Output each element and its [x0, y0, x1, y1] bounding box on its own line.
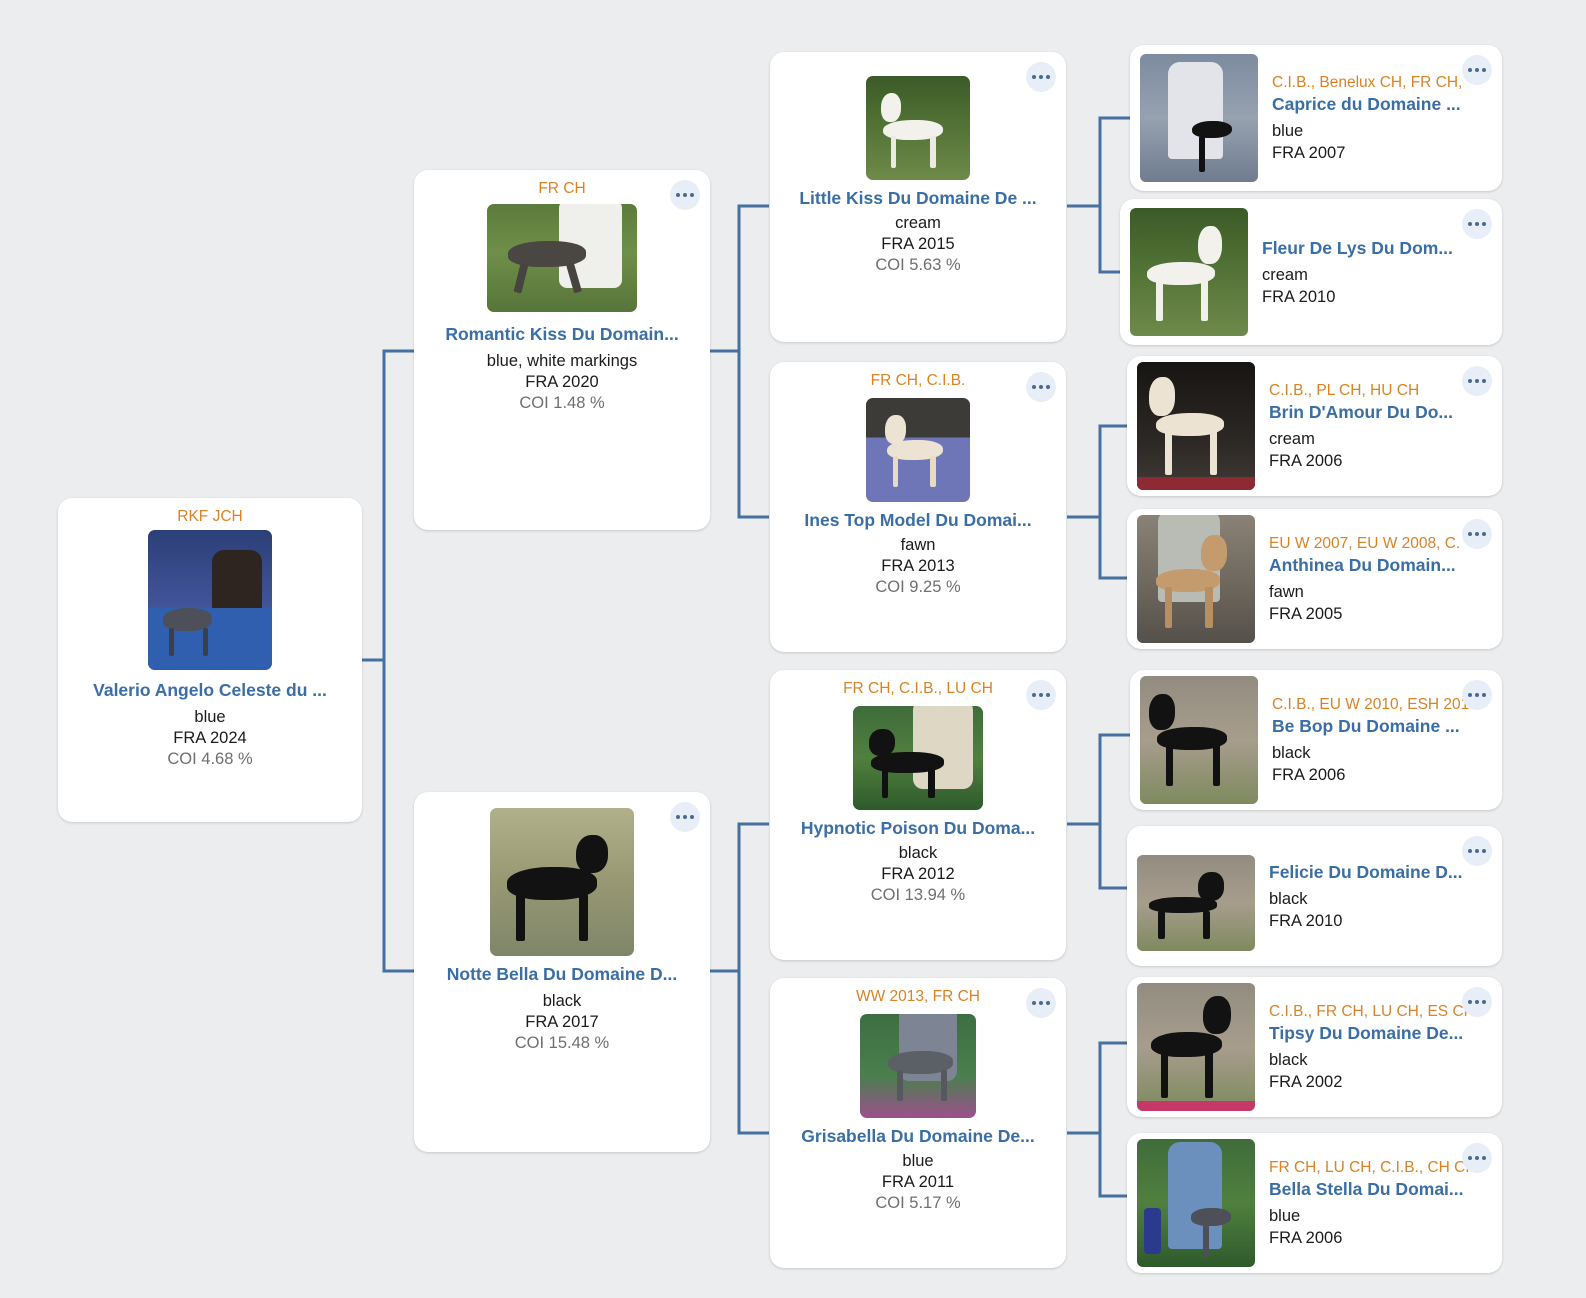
dog-colour: cream — [895, 213, 941, 234]
pedigree-card-gen4-2[interactable]: C.I.B., PL CH, HU CH Brin D'Amour Du Do.… — [1127, 356, 1502, 496]
photo-dog-leg — [1205, 1052, 1212, 1098]
photo-handler — [1168, 1142, 1222, 1250]
dog-photo[interactable] — [1137, 515, 1255, 643]
ellipsis-icon — [1475, 849, 1479, 853]
pedigree-card-gen3-3[interactable]: WW 2013, FR CH Grisabella Du Domaine De.… — [770, 978, 1066, 1268]
ellipsis-icon — [1482, 222, 1486, 226]
dog-name-link[interactable]: Ines Top Model Du Domai... — [804, 510, 1031, 531]
photo-handler — [1168, 62, 1222, 159]
photo-handler — [913, 706, 973, 789]
dog-origin: FRA 2010 — [1269, 910, 1492, 932]
photo-dog-leg — [882, 768, 889, 797]
dog-coi: COI 9.25 % — [875, 577, 960, 598]
dog-photo[interactable] — [1140, 676, 1258, 804]
dog-coi: COI 15.48 % — [515, 1033, 609, 1054]
dog-titles: WW 2013, FR CH — [856, 988, 980, 1006]
photo-dog-leg — [1165, 587, 1172, 628]
card-menu-button[interactable] — [1462, 1143, 1492, 1173]
pedigree-card-gen4-5[interactable]: Felicie Du Domaine D... black FRA 2010 — [1127, 826, 1502, 966]
card-menu-button[interactable] — [1462, 987, 1492, 1017]
dog-origin: FRA 2017 — [525, 1012, 598, 1033]
dog-name-link[interactable]: Be Bop Du Domaine ... — [1272, 714, 1492, 738]
card-menu-button[interactable] — [670, 802, 700, 832]
pedigree-card-gen2-1[interactable]: Notte Bella Du Domaine D... black FRA 20… — [414, 792, 710, 1152]
card-menu-button[interactable] — [670, 180, 700, 210]
dog-origin: FRA 2006 — [1269, 450, 1492, 472]
ellipsis-icon — [1046, 385, 1050, 389]
dog-origin: FRA 2007 — [1272, 142, 1492, 164]
card-menu-button[interactable] — [1462, 680, 1492, 710]
dog-name-link[interactable]: Hypnotic Poison Du Doma... — [801, 818, 1035, 839]
pedigree-card-gen3-0[interactable]: Little Kiss Du Domaine De ... cream FRA … — [770, 52, 1066, 342]
dog-photo[interactable] — [1137, 855, 1255, 951]
dog-name-link[interactable]: Anthinea Du Domain... — [1269, 553, 1492, 577]
ellipsis-icon — [1039, 693, 1043, 697]
dog-info: C.I.B., PL CH, HU CH Brin D'Amour Du Do.… — [1255, 381, 1502, 472]
photo-dog-leg — [516, 894, 525, 941]
dog-coi: COI 4.68 % — [167, 749, 252, 770]
photo-dog-leg — [1161, 1052, 1168, 1098]
ellipsis-icon — [1468, 1156, 1472, 1160]
photo-dog-head — [1149, 377, 1175, 415]
dog-name-link[interactable]: Little Kiss Du Domaine De ... — [799, 188, 1036, 209]
ellipsis-icon — [1475, 379, 1479, 383]
pedigree-card-gen3-2[interactable]: FR CH, C.I.B., LU CH Hypnotic Poison Du … — [770, 670, 1066, 960]
card-menu-button[interactable] — [1462, 55, 1492, 85]
ellipsis-icon — [1468, 849, 1472, 853]
dog-name-link[interactable]: Tipsy Du Domaine De... — [1269, 1021, 1492, 1045]
pedigree-card-gen4-0[interactable]: C.I.B., Benelux CH, FR CH, Caprice du Do… — [1130, 45, 1502, 191]
ellipsis-icon — [1046, 1001, 1050, 1005]
dog-name-link[interactable]: Bella Stella Du Domai... — [1269, 1177, 1492, 1201]
pedigree-card-gen4-1[interactable]: Fleur De Lys Du Dom... cream FRA 2010 — [1120, 199, 1502, 345]
pedigree-card-gen4-6[interactable]: C.I.B., FR CH, LU CH, ES CH Tipsy Du Dom… — [1127, 977, 1502, 1117]
dog-origin: FRA 2020 — [525, 372, 598, 393]
ellipsis-icon — [1482, 379, 1486, 383]
ellipsis-icon — [1032, 385, 1036, 389]
dog-photo[interactable] — [1137, 1139, 1255, 1267]
dog-name-link[interactable]: Caprice du Domaine ... — [1272, 92, 1492, 116]
dog-coi: COI 5.63 % — [875, 255, 960, 276]
photo-dog-leg — [891, 136, 896, 167]
dog-titles: FR CH, C.I.B., LU CH — [843, 680, 993, 698]
dog-origin: FRA 2002 — [1269, 1071, 1492, 1093]
ellipsis-icon — [1482, 1156, 1486, 1160]
dog-titles: C.I.B., Benelux CH, FR CH, — [1272, 73, 1492, 92]
photo-dog-head — [576, 835, 608, 873]
dog-colour: fawn — [1269, 581, 1492, 603]
ellipsis-icon — [690, 815, 694, 819]
photo-dog-leg — [1158, 911, 1165, 940]
photo-dog — [1191, 1208, 1231, 1226]
pedigree-card-gen1-0[interactable]: RKF JCH Valerio Angelo Celeste du ... bl… — [58, 498, 362, 822]
ellipsis-icon — [1475, 1000, 1479, 1004]
ellipsis-icon — [1475, 1156, 1479, 1160]
card-menu-button[interactable] — [1026, 372, 1056, 402]
dog-photo[interactable] — [148, 530, 272, 670]
ellipsis-icon — [1046, 693, 1050, 697]
dog-info: C.I.B., FR CH, LU CH, ES CH Tipsy Du Dom… — [1255, 1002, 1502, 1093]
ellipsis-icon — [676, 193, 680, 197]
pedigree-card-gen3-1[interactable]: FR CH, C.I.B. Ines Top Model Du Domai...… — [770, 362, 1066, 652]
dog-titles: RKF JCH — [177, 508, 242, 526]
ellipsis-icon — [1475, 222, 1479, 226]
dog-titles: C.I.B., EU W 2010, ESH 201 — [1272, 695, 1492, 714]
photo-dog-head — [1149, 694, 1175, 730]
dog-info: C.I.B., Benelux CH, FR CH, Caprice du Do… — [1258, 73, 1502, 164]
dog-titles: C.I.B., PL CH, HU CH — [1269, 381, 1492, 400]
photo-dog-leg — [897, 1070, 903, 1101]
dog-colour: blue — [1269, 1205, 1492, 1227]
dog-colour: black — [1269, 1049, 1492, 1071]
photo-dog-head — [1198, 226, 1222, 264]
ellipsis-icon — [1482, 532, 1486, 536]
dog-photo[interactable] — [853, 706, 983, 810]
ellipsis-icon — [1468, 1000, 1472, 1004]
ellipsis-icon — [1468, 532, 1472, 536]
photo-dog-leg — [941, 1070, 947, 1101]
dog-coi: COI 1.48 % — [519, 393, 604, 414]
dog-name-link[interactable]: Grisabella Du Domaine De... — [801, 1126, 1034, 1147]
pedigree-card-gen4-7[interactable]: FR CH, LU CH, C.I.B., CH CH Bella Stella… — [1127, 1133, 1502, 1273]
dog-info: Fleur De Lys Du Dom... cream FRA 2010 — [1248, 236, 1502, 308]
dog-colour: cream — [1269, 428, 1492, 450]
pedigree-chart: RKF JCH Valerio Angelo Celeste du ... bl… — [0, 0, 1586, 1298]
dog-photo[interactable] — [860, 1014, 976, 1118]
ellipsis-icon — [1468, 222, 1472, 226]
photo-dog-leg — [1210, 431, 1217, 475]
dog-origin: FRA 2010 — [1262, 286, 1492, 308]
photo-dog-leg — [203, 628, 208, 656]
dog-colour: black — [1272, 742, 1492, 764]
ellipsis-icon — [690, 193, 694, 197]
photo-dog-leg — [1165, 431, 1172, 475]
photo-dog-leg — [1156, 280, 1163, 321]
ellipsis-icon — [1039, 1001, 1043, 1005]
dog-name-link[interactable]: Notte Bella Du Domaine D... — [447, 964, 677, 985]
photo-mat — [1137, 477, 1255, 490]
ellipsis-icon — [1468, 693, 1472, 697]
photo-mat — [1137, 1101, 1255, 1111]
dog-colour: cream — [1262, 264, 1492, 286]
pedigree-card-gen2-0[interactable]: FR CH Romantic Kiss Du Domain... blue, w… — [414, 170, 710, 530]
dog-name-link[interactable]: Fleur De Lys Du Dom... — [1262, 236, 1492, 260]
card-menu-button[interactable] — [1026, 680, 1056, 710]
dog-titles: FR CH, C.I.B. — [871, 372, 966, 390]
dog-colour: blue — [194, 707, 225, 728]
dog-origin: FRA 2012 — [881, 864, 954, 885]
dog-colour: black — [1269, 888, 1492, 910]
ellipsis-icon — [683, 193, 687, 197]
dog-origin: FRA 2011 — [882, 1172, 954, 1193]
photo-dog-head — [1201, 535, 1227, 571]
dog-info: C.I.B., EU W 2010, ESH 201 Be Bop Du Dom… — [1258, 695, 1502, 786]
dog-origin: FRA 2015 — [881, 234, 954, 255]
card-menu-button[interactable] — [1462, 366, 1492, 396]
dog-colour: blue — [902, 1151, 933, 1172]
dog-name-link[interactable]: Felicie Du Domaine D... — [1269, 860, 1492, 884]
ellipsis-icon — [1032, 75, 1036, 79]
dog-name-link[interactable]: Valerio Angelo Celeste du ... — [93, 680, 327, 701]
dog-origin: FRA 2013 — [881, 556, 954, 577]
dog-name-link[interactable]: Brin D'Amour Du Do... — [1269, 400, 1492, 424]
ellipsis-icon — [1468, 68, 1472, 72]
dog-colour: blue, white markings — [487, 351, 637, 372]
dog-info: FR CH, LU CH, C.I.B., CH CH Bella Stella… — [1255, 1158, 1502, 1249]
ellipsis-icon — [1482, 693, 1486, 697]
ellipsis-icon — [1482, 68, 1486, 72]
dog-colour: black — [899, 843, 938, 864]
ellipsis-icon — [1032, 693, 1036, 697]
dog-titles: FR CH, LU CH, C.I.B., CH CH — [1269, 1158, 1492, 1177]
dog-photo[interactable] — [1137, 983, 1255, 1111]
photo-dog-head — [869, 729, 895, 756]
dog-info: EU W 2007, EU W 2008, C. Anthinea Du Dom… — [1255, 534, 1502, 625]
dog-colour: fawn — [901, 535, 936, 556]
dog-photo[interactable] — [490, 808, 634, 956]
photo-dog-leg — [1203, 1223, 1209, 1256]
dog-origin: FRA 2006 — [1269, 1227, 1492, 1249]
dog-photo[interactable] — [1137, 362, 1255, 490]
card-menu-button[interactable] — [1462, 836, 1492, 866]
photo-dog-leg — [1199, 136, 1205, 172]
photo-dog-leg — [930, 136, 935, 167]
dog-photo[interactable] — [1130, 208, 1248, 336]
photo-dog-leg — [1213, 745, 1220, 786]
ellipsis-icon — [1032, 1001, 1036, 1005]
card-menu-button[interactable] — [1026, 62, 1056, 92]
dog-titles: FR CH — [538, 180, 585, 198]
photo-dog-head — [885, 415, 906, 444]
photo-dog-leg — [893, 456, 898, 487]
dog-photo[interactable] — [487, 204, 637, 312]
dog-colour: blue — [1272, 120, 1492, 142]
ellipsis-icon — [1475, 532, 1479, 536]
pedigree-card-gen4-4[interactable]: C.I.B., EU W 2010, ESH 201 Be Bop Du Dom… — [1130, 670, 1502, 810]
dog-colour: black — [543, 991, 582, 1012]
dog-photo[interactable] — [866, 398, 970, 502]
photo-dog-leg — [930, 456, 935, 487]
ellipsis-icon — [683, 815, 687, 819]
ellipsis-icon — [1039, 75, 1043, 79]
dog-origin: FRA 2024 — [173, 728, 246, 749]
pedigree-card-gen4-3[interactable]: EU W 2007, EU W 2008, C. Anthinea Du Dom… — [1127, 509, 1502, 649]
photo-dog-head — [1198, 872, 1224, 901]
ellipsis-icon — [1046, 75, 1050, 79]
ellipsis-icon — [1468, 379, 1472, 383]
card-menu-button[interactable] — [1462, 209, 1492, 239]
dog-name-link[interactable]: Romantic Kiss Du Domain... — [445, 324, 678, 345]
photo-dog-leg — [1205, 587, 1212, 628]
dog-titles: EU W 2007, EU W 2008, C. — [1269, 534, 1492, 553]
ellipsis-icon — [1039, 385, 1043, 389]
dog-origin: FRA 2006 — [1272, 764, 1492, 786]
dog-titles: C.I.B., FR CH, LU CH, ES CH — [1269, 1002, 1492, 1021]
photo-trophy — [1144, 1208, 1161, 1254]
photo-dog — [1192, 121, 1232, 139]
dog-photo[interactable] — [866, 76, 970, 180]
photo-dog-leg — [169, 628, 174, 656]
photo-dog-leg — [1166, 745, 1173, 786]
ellipsis-icon — [1475, 68, 1479, 72]
ellipsis-icon — [1482, 849, 1486, 853]
card-menu-button[interactable] — [1026, 988, 1056, 1018]
ellipsis-icon — [1482, 1000, 1486, 1004]
dog-origin: FRA 2005 — [1269, 603, 1492, 625]
dog-photo[interactable] — [1140, 54, 1258, 182]
dog-coi: COI 5.17 % — [875, 1193, 960, 1214]
card-menu-button[interactable] — [1462, 519, 1492, 549]
photo-dog-head — [1203, 996, 1231, 1034]
photo-dog-leg — [1201, 280, 1208, 321]
ellipsis-icon — [676, 815, 680, 819]
dog-coi: COI 13.94 % — [871, 885, 965, 906]
photo-dog-head — [881, 93, 902, 122]
photo-dog-leg — [579, 894, 588, 941]
photo-dog-leg — [928, 768, 935, 797]
dog-info: Felicie Du Domaine D... black FRA 2010 — [1255, 860, 1502, 932]
ellipsis-icon — [1475, 693, 1479, 697]
photo-dog-leg — [1203, 911, 1210, 940]
